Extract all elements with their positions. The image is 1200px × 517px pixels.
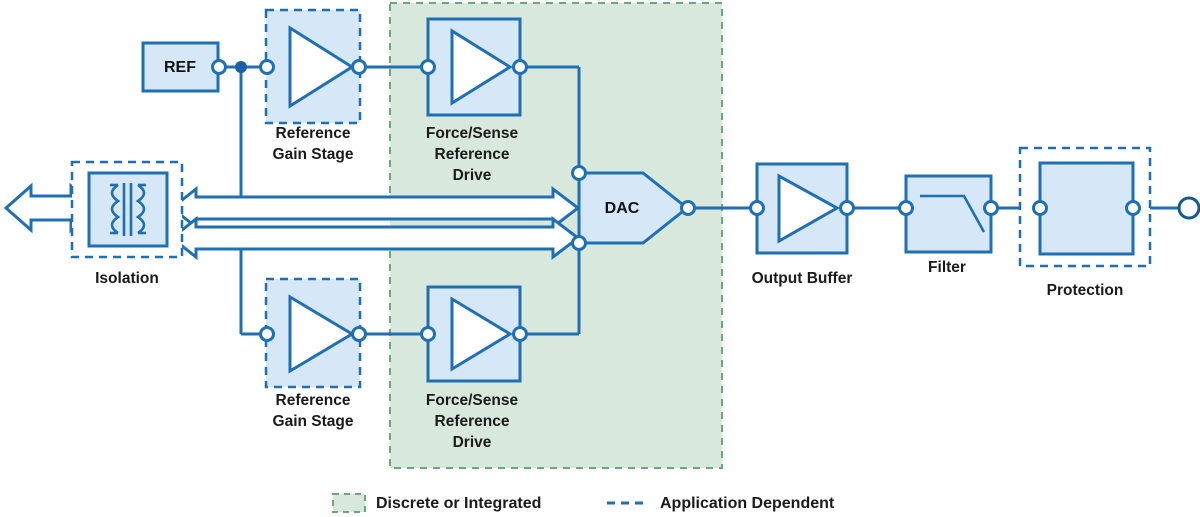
reference-gain-stage-bottom-caption-line2: Gain Stage (273, 413, 354, 430)
protection-input-port (1034, 202, 1047, 215)
signal-chain-diagram: REF Reference Gain Stage Force/Sense Ref… (0, 0, 1200, 517)
ref-block-label: REF (164, 59, 196, 76)
force-sense-top-input-port (422, 61, 435, 74)
output-buffer-block[interactable] (757, 164, 847, 253)
force-sense-top-caption-line2: Reference (435, 146, 510, 163)
legend-label-discrete-or-integrated: Discrete or Integrated (376, 495, 541, 512)
reference-gain-stage-top-caption-line1: Reference (276, 125, 351, 142)
protection-caption: Protection (1047, 282, 1124, 299)
dac-output-port (682, 202, 695, 215)
reference-gain-stage-top-output-port (353, 61, 366, 74)
dac-bottom-port (573, 237, 586, 250)
block-diagram-canvas: REF Reference Gain Stage Force/Sense Ref… (0, 0, 1200, 517)
isolation-block[interactable] (72, 162, 182, 257)
force-sense-reference-drive-bottom[interactable] (428, 287, 520, 381)
force-sense-bottom-caption-line3: Drive (453, 434, 492, 451)
isolation-caption: Isolation (95, 270, 159, 287)
force-sense-bottom-caption-line2: Reference (435, 413, 510, 430)
dac-top-port (573, 167, 586, 180)
force-sense-reference-drive-top[interactable] (428, 19, 520, 115)
filter-caption: Filter (928, 259, 966, 276)
filter-input-port (900, 202, 913, 215)
output-buffer-output-port (841, 202, 854, 215)
legend-swatch-discrete-or-integrated (333, 494, 365, 512)
force-sense-top-caption-line1: Force/Sense (426, 125, 519, 142)
protection-output-port (1127, 202, 1140, 215)
reference-gain-stage-bottom-caption-line1: Reference (276, 392, 351, 409)
filter-output-port (985, 202, 998, 215)
output-terminal (1179, 198, 1199, 218)
force-sense-top-output-port (514, 61, 527, 74)
force-sense-bottom-caption-line1: Force/Sense (426, 392, 519, 409)
output-buffer-input-port (751, 202, 764, 215)
reference-gain-stage-bottom-output-port (353, 328, 366, 341)
legend: Discrete or Integrated Application Depen… (333, 494, 835, 512)
filter-block[interactable] (906, 176, 991, 252)
reference-gain-stage-top-caption-line2: Gain Stage (273, 146, 354, 163)
ref-junction-dot (235, 61, 247, 73)
reference-gain-stage-bottom-input-port (261, 328, 274, 341)
reference-gain-stage-top-input-port (261, 61, 274, 74)
ref-output-port (213, 61, 226, 74)
ref-block[interactable]: REF (143, 43, 218, 91)
force-sense-bottom-output-port (514, 328, 527, 341)
force-sense-bottom-input-port (422, 328, 435, 341)
legend-label-application-dependent: Application Dependent (660, 495, 835, 512)
reference-gain-stage-top[interactable] (266, 10, 360, 123)
output-buffer-caption: Output Buffer (752, 270, 853, 287)
reference-gain-stage-bottom[interactable] (266, 279, 360, 387)
force-sense-top-caption-line3: Drive (453, 167, 492, 184)
dac-block-label: DAC (605, 200, 640, 217)
